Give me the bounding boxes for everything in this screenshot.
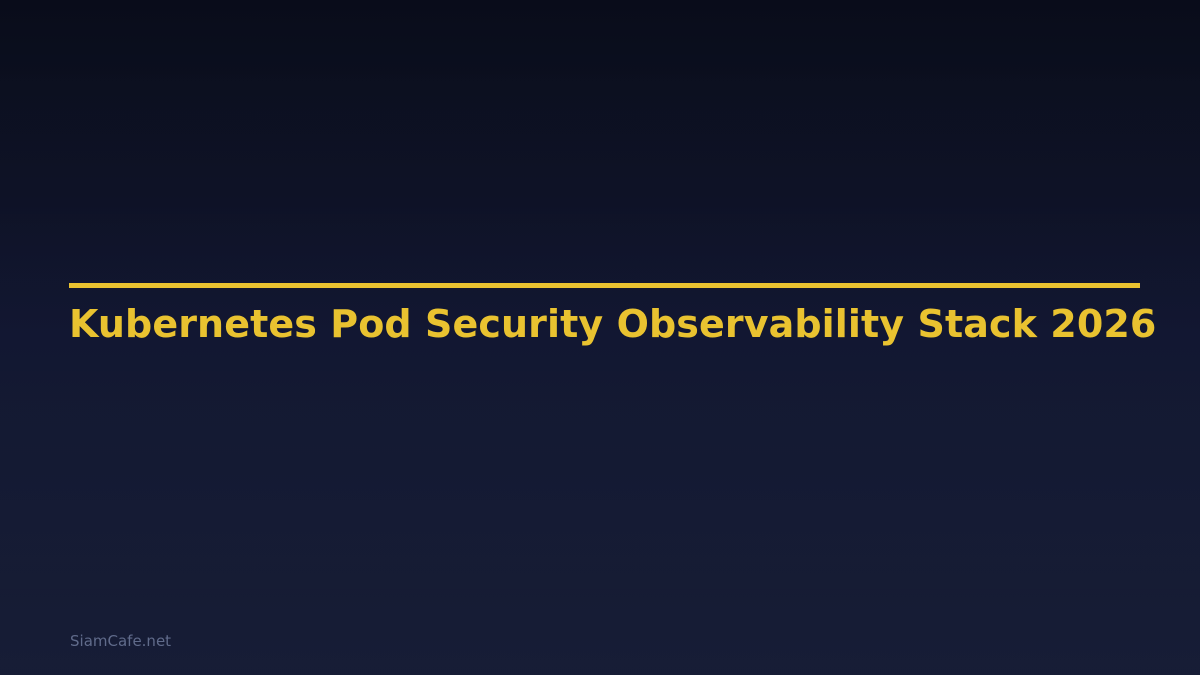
presentation-slide: Kubernetes Pod Security Observability St… xyxy=(0,0,1200,675)
title-block: Kubernetes Pod Security Observability St… xyxy=(69,283,1140,343)
slide-title: Kubernetes Pod Security Observability St… xyxy=(69,305,1140,343)
footer-brand-label: SiamCafe.net xyxy=(70,632,171,650)
accent-rule xyxy=(69,283,1140,288)
slide-footer: SiamCafe.net xyxy=(70,631,171,650)
